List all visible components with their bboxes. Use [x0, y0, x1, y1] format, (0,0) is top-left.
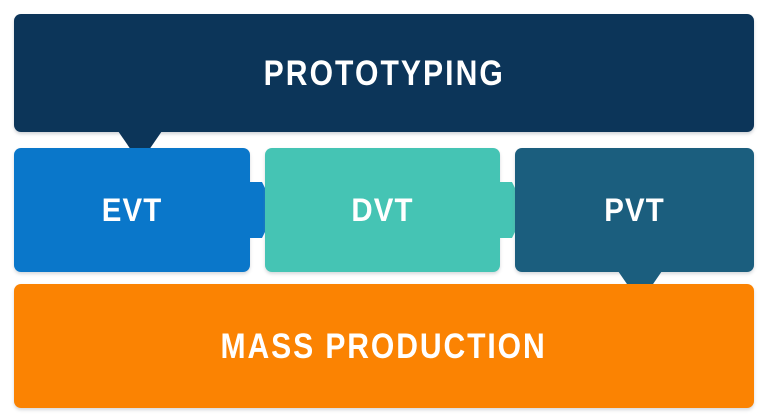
stage-pvt[interactable]: PVT — [515, 148, 754, 272]
process-flow-diagram: PROTOTYPING EVT DVT PVT — [0, 0, 768, 420]
stage-dvt[interactable]: DVT — [265, 148, 500, 272]
mass-production-label: MASS PRODUCTION — [221, 329, 547, 364]
stage-dvt-label: DVT — [274, 148, 490, 272]
stage-evt-label: EVT — [23, 148, 240, 272]
prototyping-band: PROTOTYPING — [14, 14, 754, 132]
stage-pvt-label: PVT — [525, 148, 745, 272]
mass-production-band: MASS PRODUCTION — [14, 284, 754, 408]
prototyping-label: PROTOTYPING — [263, 56, 504, 91]
stage-evt[interactable]: EVT — [14, 148, 250, 272]
